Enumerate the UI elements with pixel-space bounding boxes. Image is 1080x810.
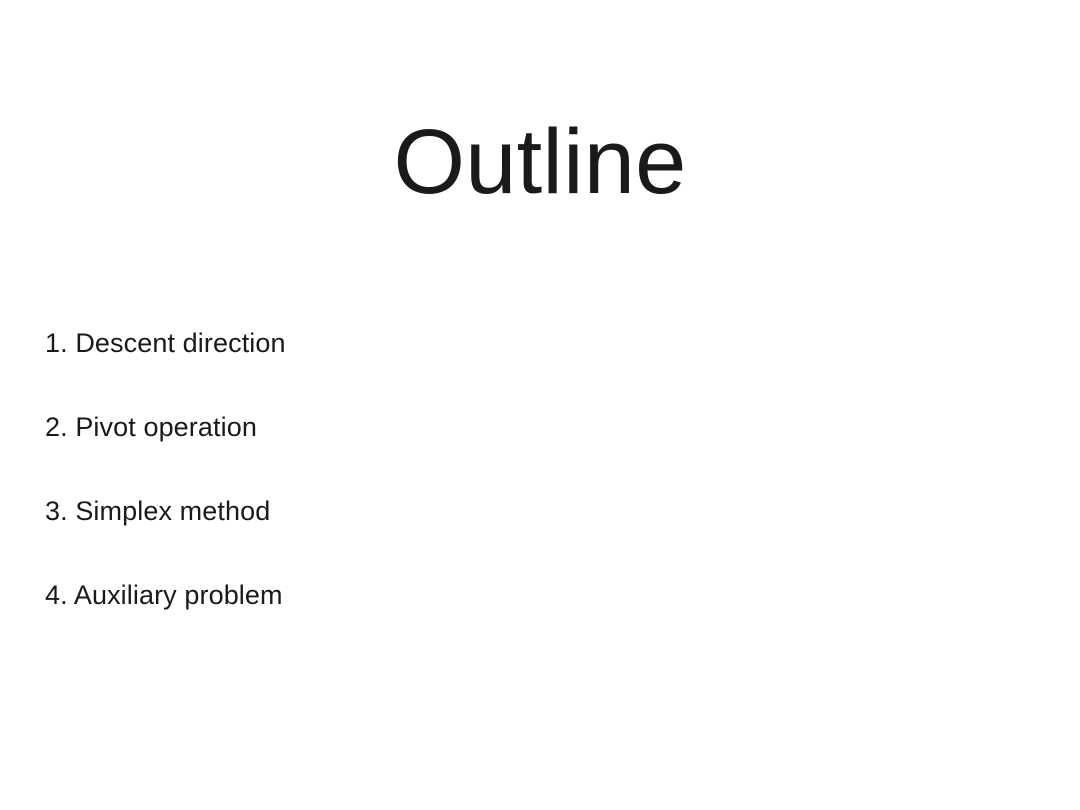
list-item-label: Pivot operation xyxy=(75,412,257,442)
list-item: 1. Descent direction xyxy=(45,330,945,357)
list-item: 2. Pivot operation xyxy=(45,414,945,441)
list-item-label: Auxiliary problem xyxy=(74,580,283,610)
list-item-label: Descent direction xyxy=(75,328,285,358)
list-item: 4. Auxiliary problem xyxy=(45,582,945,609)
list-item-number: 4. xyxy=(45,580,68,610)
list-item-number: 1. xyxy=(45,328,68,358)
list-item-number: 2. xyxy=(45,412,68,442)
list-item-label: Simplex method xyxy=(75,496,270,526)
list-item: 3. Simplex method xyxy=(45,498,945,525)
outline-list: 1. Descent direction 2. Pivot operation … xyxy=(45,330,945,609)
list-item-number: 3. xyxy=(45,496,68,526)
page-title: Outline xyxy=(0,114,1080,211)
presentation-slide: Outline 1. Descent direction 2. Pivot op… xyxy=(0,0,1080,810)
